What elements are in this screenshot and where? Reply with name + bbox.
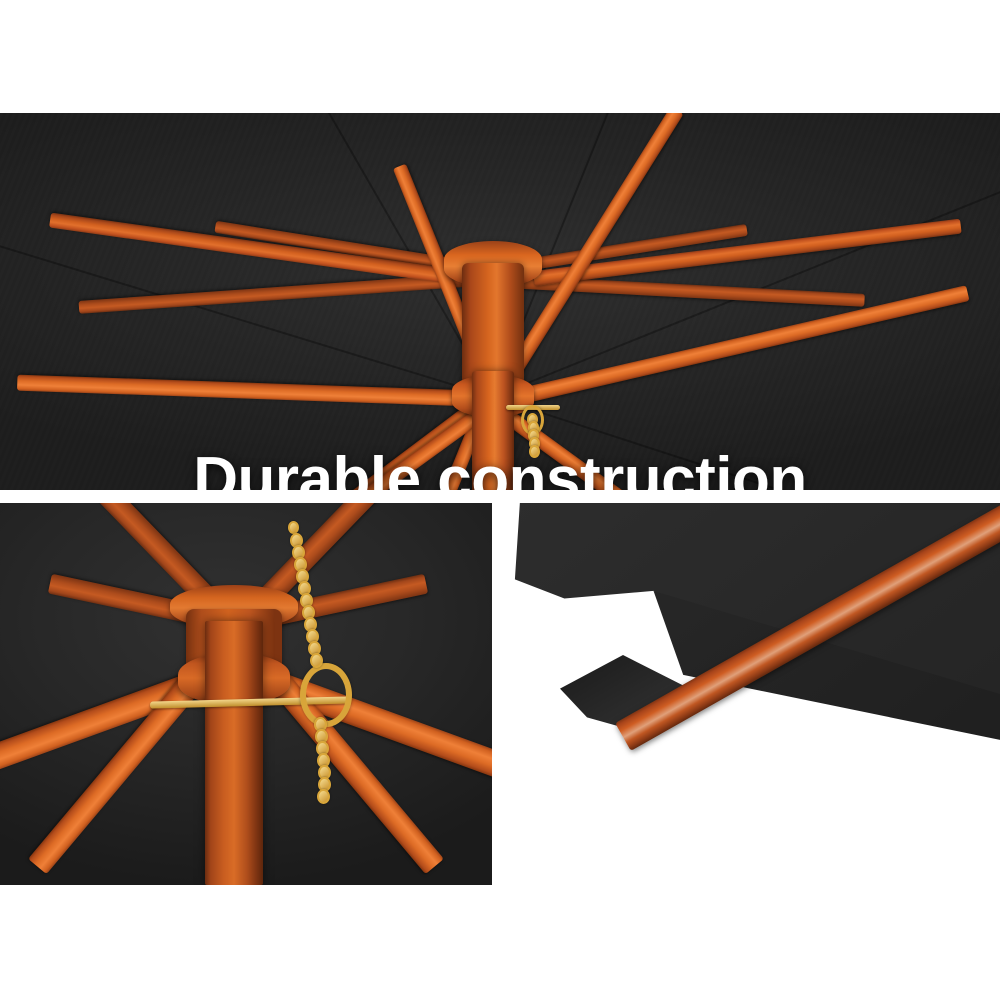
collage-canvas: Durable construction 8-rib support for A…	[0, 0, 1000, 1000]
page-title: Durable construction	[0, 449, 1000, 490]
panel-solid-wood-frame: Solid wood frame	[505, 503, 1000, 885]
retaining-clip-icon	[300, 663, 352, 727]
panel-secure-locking: Secure locking	[0, 503, 492, 885]
panel-hero-umbrella: Durable construction 8-rib support for A…	[0, 113, 1000, 490]
umbrella-pole	[205, 621, 263, 885]
